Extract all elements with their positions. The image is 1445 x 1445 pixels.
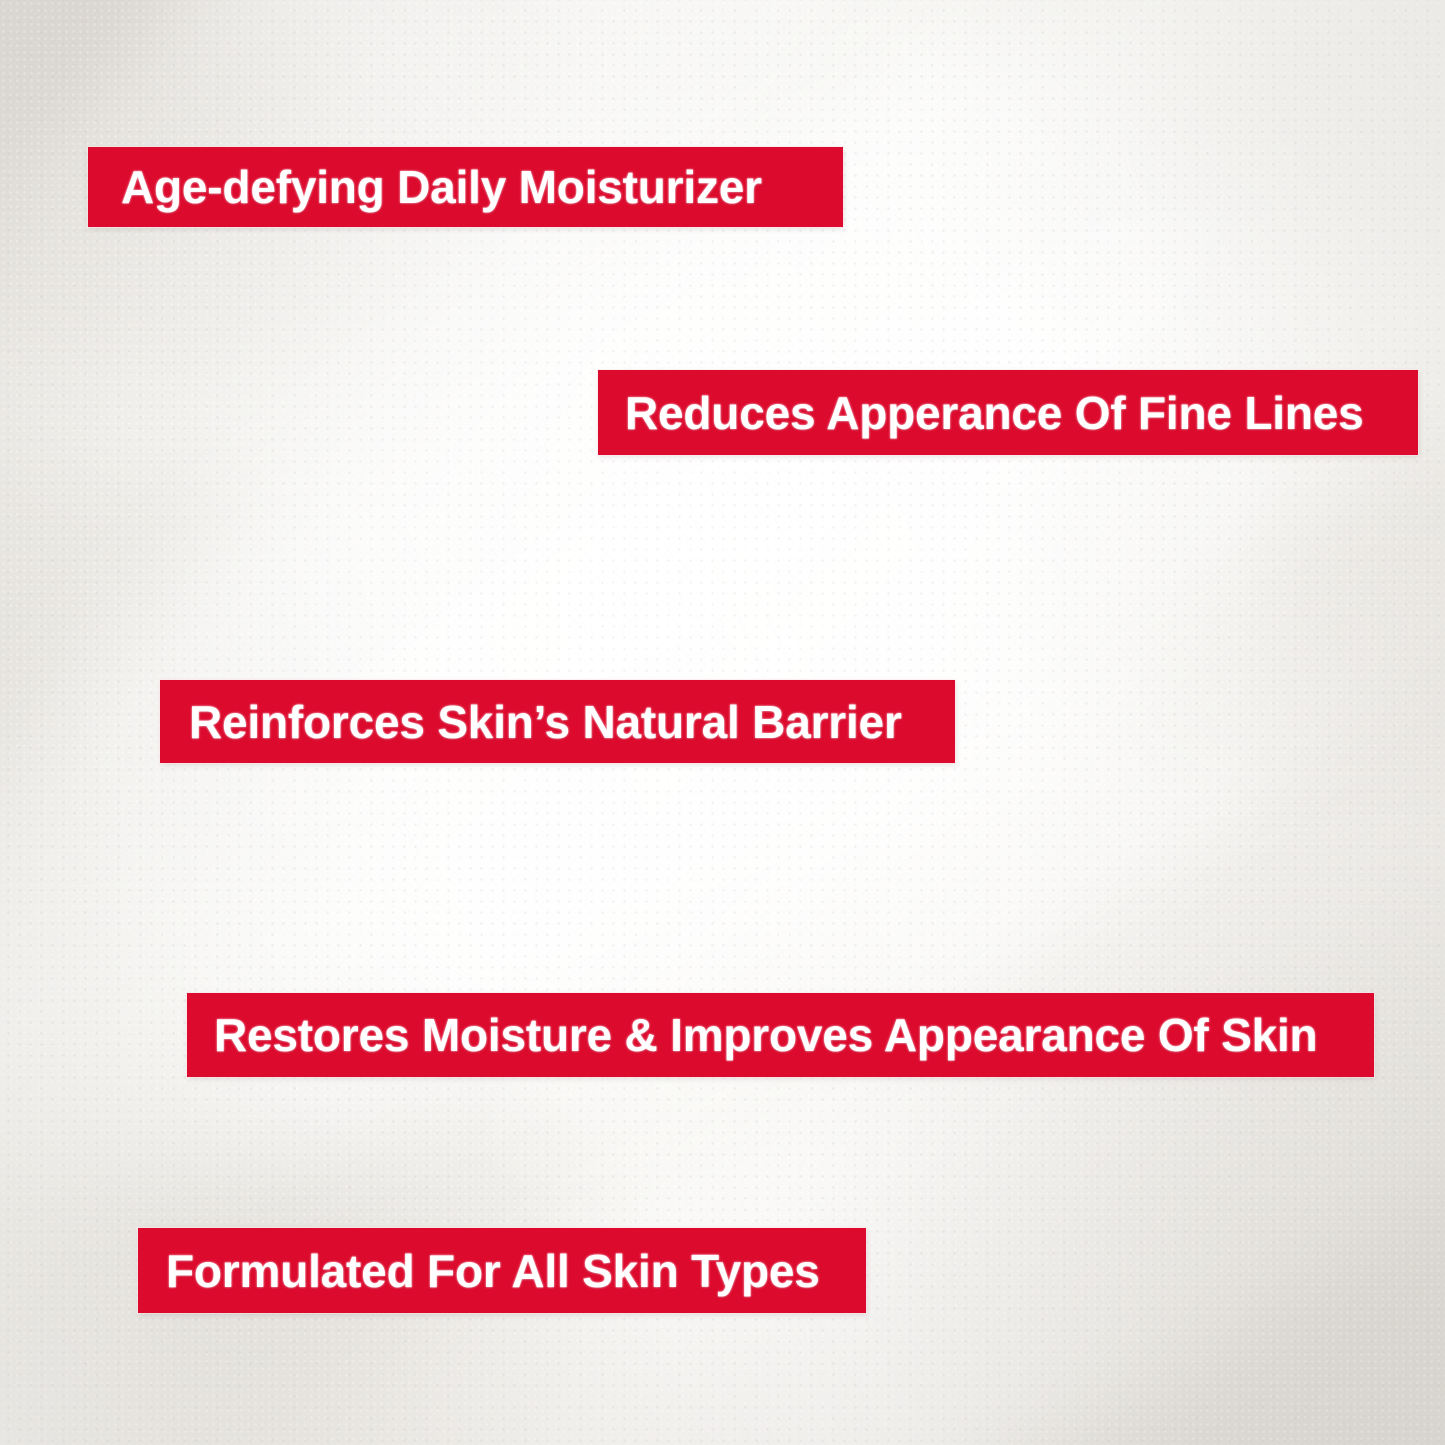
benefit-banner-reinforces-skins-natural-barrier: Reinforces Skin’s Natural Barrier [160, 680, 955, 763]
benefit-label: Reduces Apperance Of Fine Lines [625, 390, 1364, 436]
benefit-label: Age-defying Daily Moisturizer [121, 164, 762, 210]
product-benefits-graphic: Age-defying Daily Moisturizer Reduces Ap… [0, 0, 1445, 1445]
benefit-banner-formulated-for-all-skin-types: Formulated For All Skin Types [138, 1228, 866, 1313]
benefit-label: Reinforces Skin’s Natural Barrier [189, 699, 902, 745]
benefit-banner-reduces-apperance-of-fine-lines: Reduces Apperance Of Fine Lines [598, 370, 1418, 455]
benefit-label: Restores Moisture & Improves Appearance … [214, 1012, 1317, 1058]
benefit-banner-age-defying-daily-moisturizer: Age-defying Daily Moisturizer [88, 147, 843, 227]
benefit-label: Formulated For All Skin Types [166, 1248, 820, 1294]
benefit-banner-restores-moisture-improves-appearance-of-skin: Restores Moisture & Improves Appearance … [187, 993, 1374, 1077]
